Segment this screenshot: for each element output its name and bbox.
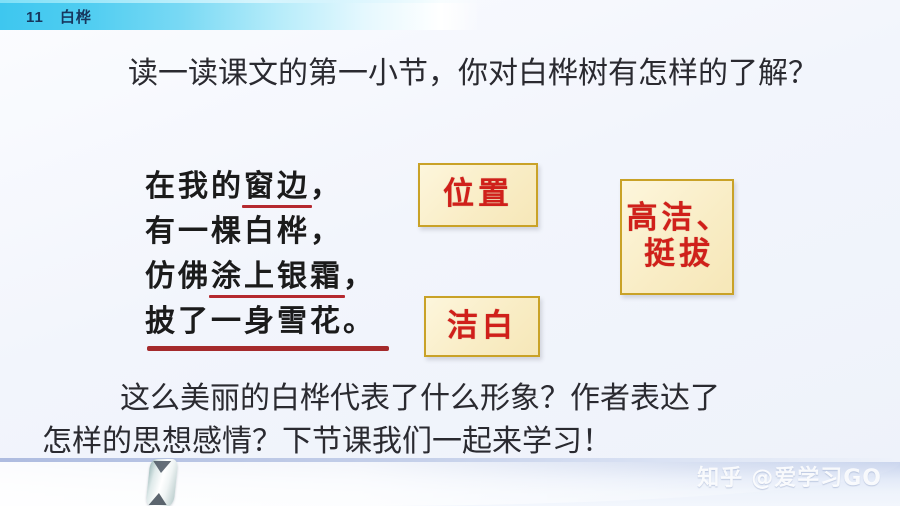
bottom-question-line-2: 怎样的思想感情？下节课我们一起来学习！ [42, 424, 612, 459]
callout-box-quality: 高洁、 挺拔 [620, 179, 734, 295]
watermark-site: 知乎 [697, 466, 743, 491]
header-highlight [0, 0, 480, 3]
callout-white-label: 洁白 [447, 309, 517, 345]
poem-line-3: 仿佛涂上银霜， [145, 254, 376, 299]
callout-position-label: 位置 [443, 177, 513, 213]
poem-line-1: 在我的窗边， [145, 164, 376, 209]
poem-line-3-underlined: 涂上银霜 [211, 259, 343, 294]
lesson-title: 白桦 [60, 9, 92, 26]
bottom-question-paragraph: 这么美丽的白桦代表了什么形象？作者表达了怎样的思想感情？下节课我们一起来学习！ [42, 377, 872, 463]
zhihu-watermark: 知乎@爱学习GO [697, 460, 882, 492]
poem-line-4-text: 披了一身雪花。 [145, 304, 376, 339]
footer-ring-ornament-icon [146, 459, 179, 506]
poem-line-2: 有一棵白桦， [145, 209, 376, 254]
top-question-text: 读一读课文的第一小节，你对白桦树有怎样的了解？ [128, 56, 818, 91]
poem-line-2-text: 有一棵白桦， [145, 214, 343, 249]
poem-line-1-prefix: 在我的 [145, 169, 244, 204]
poem-line-1-suffix: ， [310, 169, 343, 204]
callout-box-position: 位置 [418, 163, 538, 227]
callout-quality-label-line2: 挺拔 [644, 237, 714, 273]
poem-line-4: 披了一身雪花。 [145, 299, 376, 344]
poem-line-3-prefix: 仿佛 [145, 259, 211, 294]
top-question-paragraph: 读一读课文的第一小节，你对白桦树有怎样的了解？ [44, 48, 854, 99]
lesson-number: 11 [26, 9, 44, 26]
callout-quality-label-line1: 高洁、 [627, 201, 732, 237]
poem-line-3-suffix: ， [343, 259, 376, 294]
poem-block: 在我的窗边， 有一棵白桦， 仿佛涂上银霜， 披了一身雪花。 [145, 164, 376, 344]
bottom-question-line-1: 这么美丽的白桦代表了什么形象？作者表达了 [120, 381, 720, 416]
slide-canvas: 11白桦 读一读课文的第一小节，你对白桦树有怎样的了解？ 在我的窗边， 有一棵白… [0, 0, 900, 506]
watermark-handle: @爱学习GO [751, 466, 882, 491]
poem-line-1-underlined: 窗边 [244, 169, 310, 204]
callout-box-white: 洁白 [424, 296, 540, 357]
page-title: 11白桦 [26, 6, 92, 27]
